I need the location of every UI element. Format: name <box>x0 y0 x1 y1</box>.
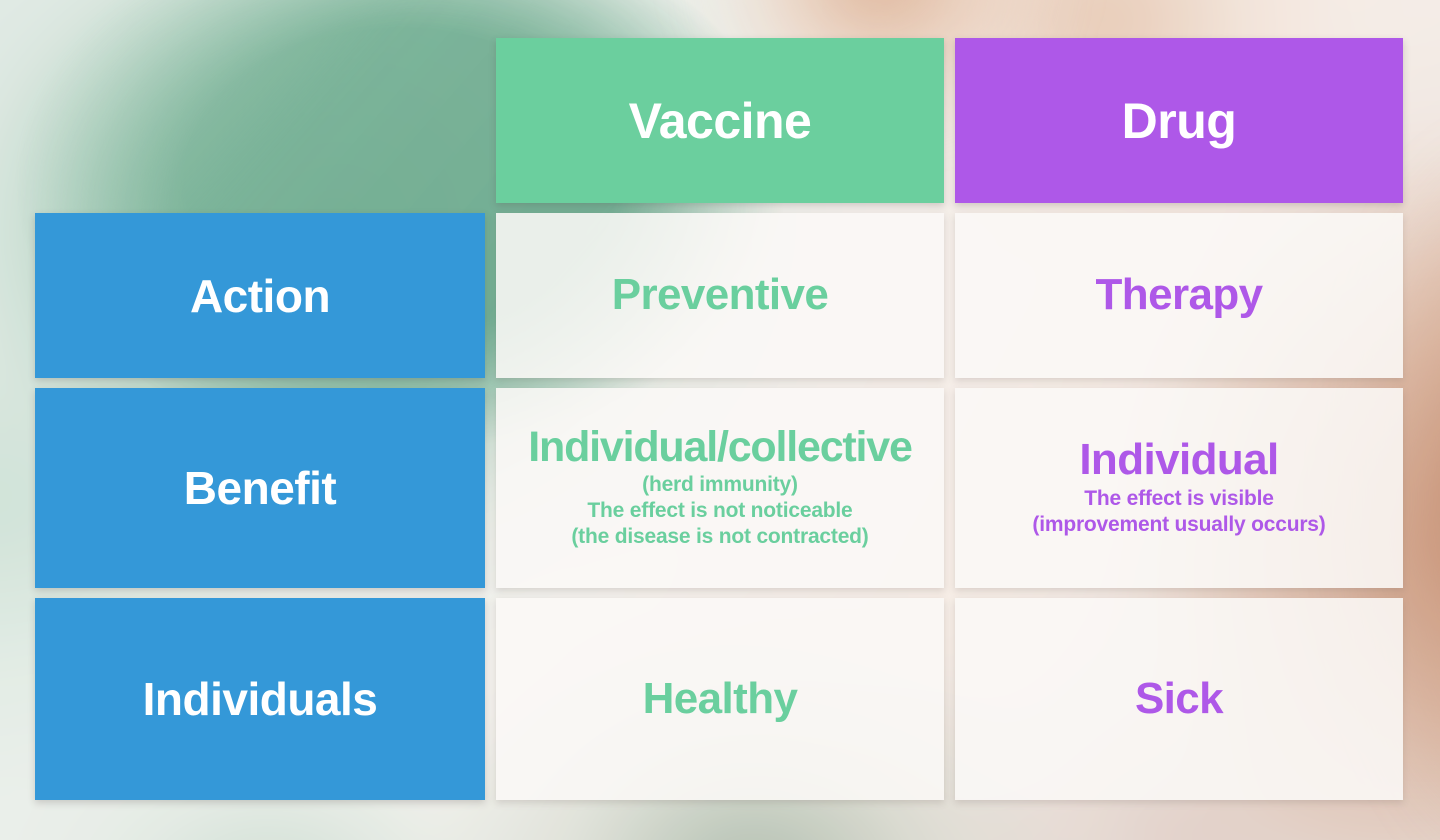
cell-benefit-drug[interactable]: Individual The effect is visible (improv… <box>955 388 1403 588</box>
note-line: (herd immunity) <box>571 472 868 498</box>
row-label-action-text: Action <box>190 273 330 319</box>
row-label-individuals[interactable]: Individuals <box>35 598 485 800</box>
cell-action-vaccine[interactable]: Preventive <box>496 213 944 378</box>
cell-benefit-vaccine-notes: (herd immunity) The effect is not notice… <box>571 472 868 550</box>
cell-individuals-vaccine[interactable]: Healthy <box>496 598 944 800</box>
cell-individuals-drug[interactable]: Sick <box>955 598 1403 800</box>
row-label-individuals-text: Individuals <box>143 676 378 722</box>
note-line: (the disease is not contracted) <box>571 524 868 550</box>
cell-individuals-vaccine-text: Healthy <box>643 677 798 722</box>
row-label-action[interactable]: Action <box>35 213 485 378</box>
note-line: The effect is visible <box>1032 486 1325 512</box>
table-corner-cell <box>35 38 485 203</box>
note-line: (improvement usually occurs) <box>1032 512 1325 538</box>
row-label-benefit-text: Benefit <box>184 465 336 511</box>
cell-benefit-drug-notes: The effect is visible (improvement usual… <box>1032 486 1325 538</box>
cell-action-drug[interactable]: Therapy <box>955 213 1403 378</box>
comparison-table: Vaccine Drug Action Preventive Therapy B… <box>35 38 1403 800</box>
column-header-vaccine-label: Vaccine <box>629 96 812 146</box>
cell-benefit-drug-text: Individual <box>1079 438 1278 483</box>
comparison-infographic: Vaccine Drug Action Preventive Therapy B… <box>0 0 1440 840</box>
cell-action-vaccine-text: Preventive <box>612 273 829 318</box>
row-label-benefit[interactable]: Benefit <box>35 388 485 588</box>
column-header-drug-label: Drug <box>1122 96 1237 146</box>
note-line: The effect is not noticeable <box>571 498 868 524</box>
column-header-drug[interactable]: Drug <box>955 38 1403 203</box>
cell-benefit-vaccine[interactable]: Individual/collective (herd immunity) Th… <box>496 388 944 588</box>
column-header-vaccine[interactable]: Vaccine <box>496 38 944 203</box>
cell-action-drug-text: Therapy <box>1096 273 1263 318</box>
cell-individuals-drug-text: Sick <box>1135 677 1223 722</box>
cell-benefit-vaccine-text: Individual/collective <box>528 426 911 470</box>
